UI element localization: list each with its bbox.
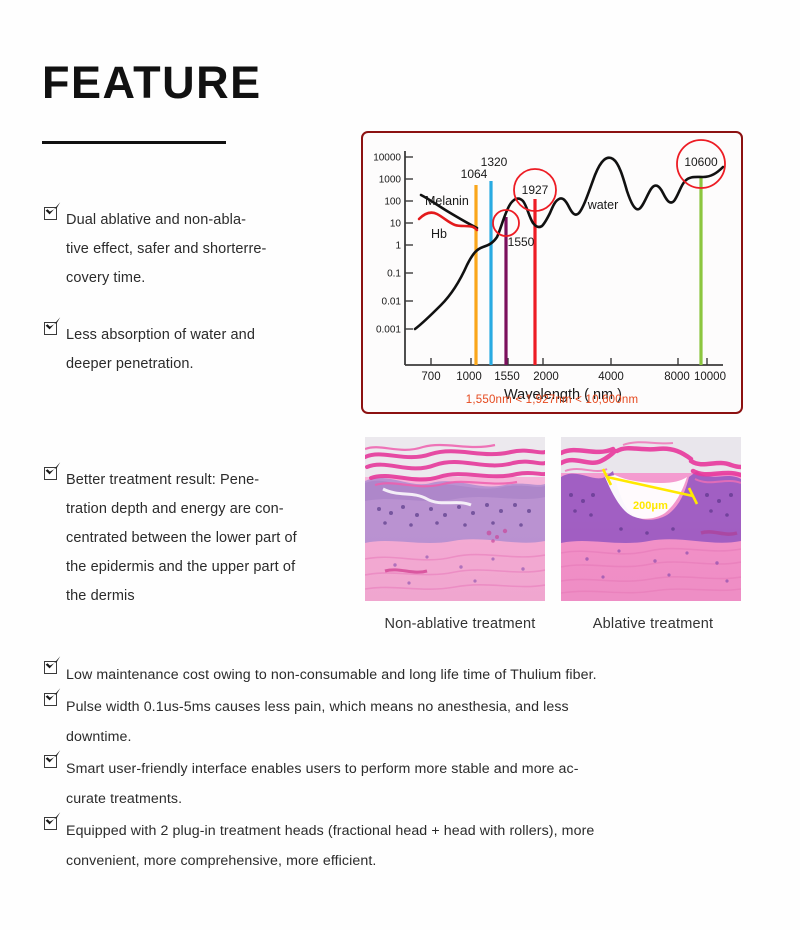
caption-non-ablative: Non-ablative treatment [365, 616, 555, 632]
checkmark-icon [44, 754, 59, 769]
histology-image-non-ablative [365, 437, 545, 601]
chart-footnote: 1,550nm < 1,927nm < 10,600nm [363, 394, 741, 406]
x-tick-label: 8000 [664, 371, 690, 383]
feature-page: FEATURE Dual ablative and non-abla-tive … [0, 0, 800, 930]
x-tick-label: 4000 [598, 371, 624, 383]
x-tick-label: 1550 [494, 371, 520, 383]
list-item: Dual ablative and non-abla-tive effect, … [44, 206, 344, 293]
y-tick-label: 0.01 [382, 297, 402, 308]
x-tick-label: 1000 [456, 371, 482, 383]
list-item-text: Dual ablative and non-abla-tive effect, … [66, 206, 267, 293]
y-tick-label: 0.1 [387, 269, 401, 280]
marker-label-1927: 1927 [522, 183, 549, 197]
list-item: Better treatment result: Pene-tration de… [44, 466, 354, 611]
caption-ablative: Ablative treatment [563, 616, 743, 632]
marker-label-10600: 10600 [684, 155, 718, 169]
y-tick-label: 1 [395, 241, 401, 252]
marker-label-1064: 1064 [461, 167, 488, 181]
series-water-curve [415, 158, 723, 329]
title-divider [42, 141, 226, 144]
series-label-water: water [587, 198, 619, 212]
x-tick-label: 10000 [694, 371, 726, 383]
list-item: Pulse width 0.1us-5ms causes less pain, … [44, 692, 774, 752]
list-item: Smart user-friendly interface enables us… [44, 754, 774, 814]
marker-label-1550: 1550 [508, 235, 535, 249]
list-item-text: Smart user-friendly interface enables us… [66, 754, 579, 814]
y-tick-label: 100 [384, 197, 401, 208]
y-tick-label: 1000 [379, 175, 402, 186]
checkmark-icon [44, 321, 59, 336]
marker-label-1320: 1320 [481, 155, 508, 169]
feature-list-bottom: Low maintenance cost owing to non-consum… [44, 660, 774, 878]
checkmark-icon [44, 206, 59, 221]
checkmark-icon [44, 816, 59, 831]
checkmark-icon [44, 466, 59, 481]
list-item: Low maintenance cost owing to non-consum… [44, 660, 774, 690]
x-tick-label: 700 [421, 371, 440, 383]
series-label-melanin: Melanin [425, 194, 469, 208]
y-tick-label: 0.001 [376, 325, 401, 336]
series-hb-curve [419, 213, 477, 230]
feature-list-left-bottom: Better treatment result: Pene-tration de… [44, 466, 354, 611]
feature-list-left-top: Dual ablative and non-abla-tive effect, … [44, 206, 344, 379]
chart-canvas: 10000 1000 100 10 1 0.1 0.01 0.001 [363, 133, 740, 411]
list-item-text: Low maintenance cost owing to non-consum… [66, 660, 597, 690]
checkmark-icon [44, 692, 59, 707]
absorption-spectrum-chart: 10000 1000 100 10 1 0.1 0.01 0.001 [361, 131, 743, 414]
list-item-text: Equipped with 2 plug-in treatment heads … [66, 816, 594, 876]
list-item-text: Pulse width 0.1us-5ms causes less pain, … [66, 692, 569, 752]
list-item: Less absorption of water anddeeper penet… [44, 321, 344, 379]
scale-bar-label: 200μm [633, 500, 668, 512]
checkmark-icon [44, 660, 59, 675]
series-label-hb: Hb [431, 227, 447, 241]
histology-image-ablative: 200μm [561, 437, 741, 601]
x-tick-label: 2000 [533, 371, 559, 383]
list-item: Equipped with 2 plug-in treatment heads … [44, 816, 774, 876]
list-item-text: Less absorption of water anddeeper penet… [66, 321, 255, 379]
page-title: FEATURE [42, 60, 262, 105]
y-tick-label: 10 [390, 219, 402, 230]
y-tick-label: 10000 [373, 153, 401, 164]
list-item-text: Better treatment result: Pene-tration de… [66, 466, 297, 611]
